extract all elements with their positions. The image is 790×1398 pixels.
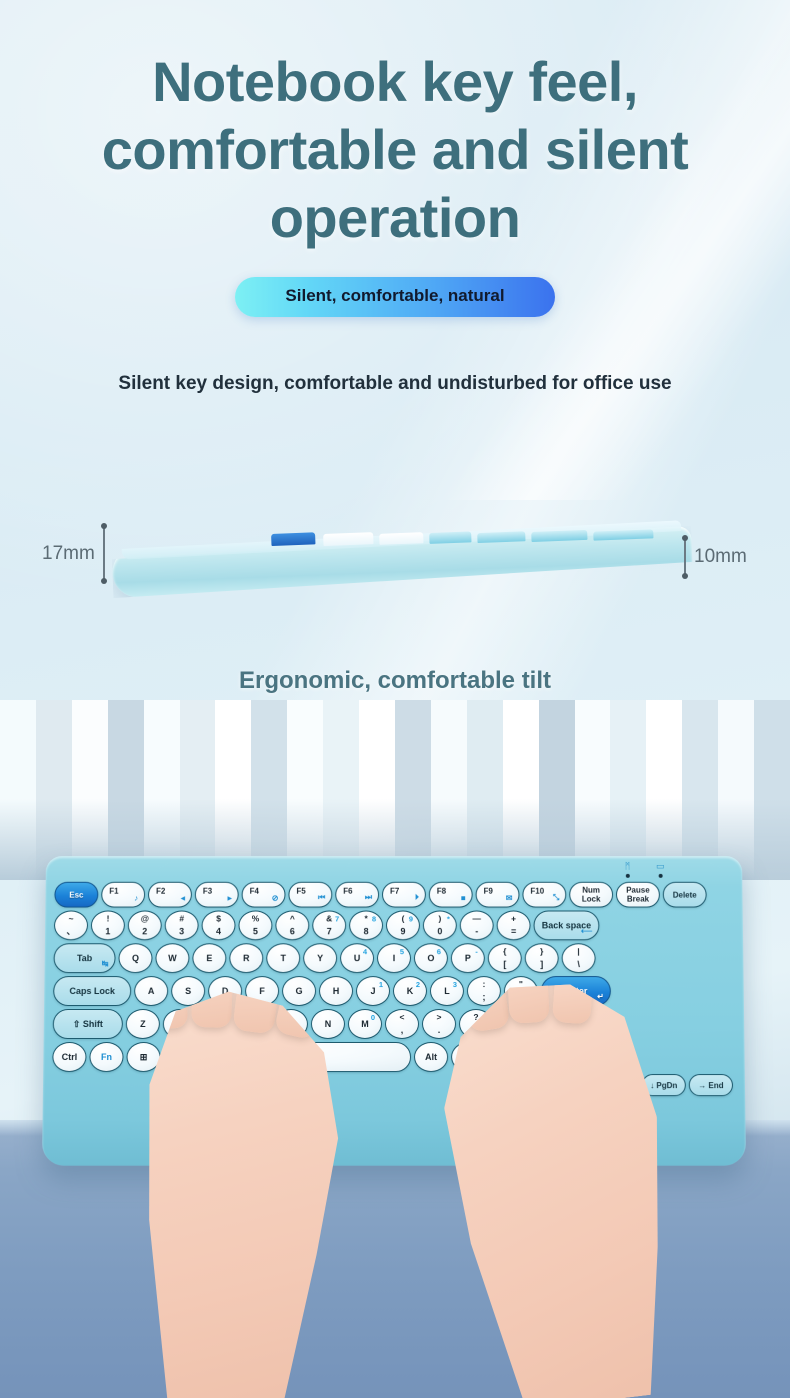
key-label: F9 — [484, 887, 493, 896]
key-function-icon: ⏮ — [318, 893, 325, 903]
blind-slat — [287, 700, 323, 880]
key-top-legend: ~ — [69, 914, 74, 923]
blind-slat — [323, 700, 359, 880]
key-label: F4 — [250, 887, 259, 896]
key-label: Tab — [77, 953, 92, 963]
product-feature-page: Notebook key feel, comfortable and silen… — [0, 0, 790, 1398]
keyboard-side-profile — [111, 514, 693, 598]
key-top-legend: ! — [107, 914, 110, 923]
side-view-section: 17mm 10mm — [0, 470, 790, 650]
key-label: T — [280, 953, 286, 963]
blind-slat — [215, 700, 251, 880]
key-bottom-legend: 1 — [105, 927, 110, 936]
key-f6[interactable]: F6⏭ — [335, 882, 379, 908]
key-label: → End — [698, 1081, 724, 1090]
key-label: F5 — [296, 887, 305, 896]
key-blank[interactable]: += — [497, 911, 531, 941]
dimension-left-line — [103, 526, 105, 581]
key-o[interactable]: O6 — [414, 943, 448, 973]
blind-slat — [395, 700, 431, 880]
key-blank[interactable]: —- — [460, 911, 494, 941]
key-label: Caps Lock — [69, 986, 115, 996]
key-top-legend: > — [437, 1013, 442, 1022]
qwerty-row: Tab↹QWERTYU4I5O6P-{[}]|\ — [53, 943, 734, 973]
key-label: G — [296, 986, 303, 996]
key-5[interactable]: %5 — [238, 911, 272, 941]
key-blank[interactable]: <, — [385, 1009, 419, 1039]
key-label: F10 — [530, 887, 544, 896]
dimension-callout-left: 17mm — [42, 526, 105, 581]
key-top-legend: ^ — [290, 914, 295, 923]
key-label: U — [354, 953, 361, 963]
key-1[interactable]: !1 — [91, 911, 125, 941]
key-top-legend: ) — [438, 914, 441, 923]
key-top-legend: * — [364, 914, 367, 923]
key-z[interactable]: Z — [126, 1009, 160, 1039]
key-label: M — [361, 1019, 369, 1029]
key-f10[interactable]: F10⤡ — [522, 882, 566, 908]
key-label: H — [333, 986, 340, 996]
key-6[interactable]: ^6 — [275, 911, 309, 941]
subtitle: Silent key design, comfortable and undis… — [0, 373, 790, 395]
key-label: P — [465, 953, 471, 963]
blind-slat — [467, 700, 503, 880]
key-ctrl[interactable]: Ctrl — [52, 1042, 86, 1072]
key-w[interactable]: W — [155, 943, 189, 973]
key-bottom-legend: \ — [577, 960, 580, 969]
key-numpad-legend: 1 — [379, 980, 383, 989]
key-label: NumLock — [582, 886, 601, 904]
key-numpad-legend: 2 — [416, 980, 420, 989]
key-bottom-legend: 9 — [400, 927, 405, 936]
key-numpad-legend: 3 — [453, 980, 457, 989]
key-bottom-legend: 、 — [66, 927, 75, 936]
side-key-cyan-2 — [477, 531, 525, 543]
blind-slat — [36, 700, 72, 880]
key-numpad-legend: 6 — [437, 947, 441, 956]
key-h[interactable]: H — [319, 976, 353, 1006]
key-bottom-legend: = — [511, 927, 516, 936]
key-label: Alt — [425, 1052, 437, 1062]
side-key-cyan-3 — [531, 530, 587, 542]
key-label: Ctrl — [62, 1052, 78, 1062]
key-end[interactable]: → End — [689, 1074, 733, 1096]
blind-slat — [575, 700, 611, 880]
key-function-icon: ⏭ — [365, 893, 372, 903]
key-top-legend: % — [252, 914, 260, 923]
key-pause-break[interactable]: PauseBreak — [616, 882, 660, 908]
key-label: Y — [317, 953, 323, 963]
key-label: Fn — [101, 1052, 112, 1062]
key-top-legend: + — [511, 914, 516, 923]
key-function-icon: ⊘ — [272, 894, 279, 903]
key-9[interactable]: (99 — [386, 911, 420, 941]
key-label: W — [168, 953, 177, 963]
key-a[interactable]: A — [134, 976, 168, 1006]
status-badge: Silent, comfortable, natural — [235, 277, 555, 317]
key-blank[interactable]: }] — [525, 943, 559, 973]
key-bottom-legend: ] — [540, 960, 543, 969]
key-q[interactable]: Q — [118, 943, 152, 973]
key-alt[interactable]: Alt — [414, 1042, 448, 1072]
key-label: Q — [132, 953, 139, 963]
key-blank[interactable]: ⊞ — [126, 1042, 160, 1072]
key-m[interactable]: M0 — [348, 1009, 382, 1039]
dimension-left-value: 17mm — [42, 543, 95, 565]
key-label: Delete — [673, 890, 697, 899]
dimension-right-line — [684, 538, 686, 576]
blind-slat — [503, 700, 539, 880]
key-label: I — [393, 953, 396, 963]
key-function-icon: ⏵ — [415, 893, 419, 903]
key-caps-lock[interactable]: Caps Lock — [53, 976, 131, 1006]
function-row: EscF1♪F2◂F3▸F4⊘F5⏮F6⏭F7⏵F8■F9✉F10⤡NumLoc… — [54, 882, 733, 908]
key-f2[interactable]: F2◂ — [148, 882, 192, 908]
ergonomic-caption: Ergonomic, comfortable tilt — [0, 667, 790, 695]
battery-indicator: ▭ — [656, 862, 665, 878]
key-blank[interactable]: |\ — [562, 943, 596, 973]
key-i[interactable]: I5 — [377, 943, 411, 973]
key-top-legend: & — [326, 914, 332, 923]
blind-slat — [359, 700, 395, 880]
key-numpad-legend: 8 — [372, 914, 376, 923]
key-top-legend: $ — [216, 914, 221, 923]
key-esc[interactable]: Esc — [54, 882, 98, 908]
dimension-right-value: 10mm — [694, 546, 747, 568]
key-label: L — [444, 986, 450, 996]
key-top-legend: | — [577, 947, 579, 956]
blind-slat — [251, 700, 287, 880]
key-k[interactable]: K2 — [393, 976, 427, 1006]
key-8[interactable]: *88 — [349, 911, 383, 941]
key-label: O — [427, 953, 434, 963]
battery-icon: ▭ — [656, 862, 665, 871]
key-blank[interactable]: {[ — [488, 943, 522, 973]
key-r[interactable]: R — [229, 943, 263, 973]
key-f5[interactable]: F5⏮ — [288, 882, 332, 908]
blind-slat — [754, 700, 790, 880]
key-label: F — [259, 986, 265, 996]
blind-slat — [682, 700, 718, 880]
key-n[interactable]: N — [311, 1009, 345, 1039]
blind-slat — [646, 700, 682, 880]
key-numpad-legend: 9 — [409, 914, 413, 923]
badge-container: Silent, comfortable, natural — [0, 277, 790, 317]
key-s[interactable]: S — [171, 976, 205, 1006]
key-g[interactable]: G — [282, 976, 316, 1006]
key-bottom-legend: ; — [482, 993, 485, 1002]
window-blinds-backdrop — [0, 700, 790, 880]
key-2[interactable]: @2 — [128, 911, 162, 941]
key-top-legend: { — [503, 947, 506, 956]
blind-slat — [180, 700, 216, 880]
key-bottom-legend: 4 — [216, 927, 221, 936]
key-label: S — [185, 986, 191, 996]
key-3[interactable]: #3 — [165, 911, 199, 941]
key-function-icon: ↹ — [102, 959, 109, 968]
blind-slat — [72, 700, 108, 880]
key-numpad-legend: 7 — [335, 914, 339, 923]
key-j[interactable]: J1 — [356, 976, 390, 1006]
key-top-legend: < — [400, 1013, 405, 1022]
key-function-icon: ▸ — [228, 894, 232, 903]
side-key-white-2 — [379, 532, 423, 545]
key-label: F1 — [109, 887, 118, 896]
key-bottom-legend: 6 — [290, 927, 295, 936]
key-label: ⊞ — [140, 1052, 148, 1063]
dimension-callout-right: 10mm — [684, 538, 747, 576]
keyboard-indicator-lights: ᛗ▭ — [625, 862, 665, 878]
side-key-blue — [271, 532, 315, 546]
key-fn[interactable]: Fn — [89, 1042, 123, 1072]
led-dot — [626, 874, 630, 878]
key-blank[interactable]: ~、 — [54, 911, 88, 941]
key-f4[interactable]: F4⊘ — [242, 882, 286, 908]
key-7[interactable]: &77 — [312, 911, 346, 941]
key-top-legend: ( — [402, 914, 405, 923]
key-bottom-legend: 3 — [179, 927, 184, 936]
key-numpad-legend: 4 — [363, 947, 367, 956]
home-row: Caps LockASDFGHJ1K2L3:;"'Enter↵ — [53, 976, 735, 1006]
bluetooth-indicator: ᛗ — [625, 862, 631, 878]
blind-slat — [610, 700, 646, 880]
key-y[interactable]: Y — [303, 943, 337, 973]
key-top-legend: } — [540, 947, 543, 956]
key-bottom-legend: 8 — [364, 927, 369, 936]
key-function-icon: ■ — [461, 894, 466, 903]
key-shift[interactable]: ⇧ Shift — [53, 1009, 123, 1039]
key-t[interactable]: T — [266, 943, 300, 973]
key-function-icon: ⤡ — [553, 893, 559, 903]
key-label: F2 — [156, 887, 165, 896]
key-numpad-legend: - — [475, 947, 478, 956]
key-label: E — [206, 953, 212, 963]
blind-slat — [144, 700, 180, 880]
key-numpad-legend: 0 — [371, 1013, 375, 1022]
blind-slat — [0, 700, 36, 880]
key-label-line: Break — [627, 895, 649, 904]
key-label: N — [325, 1019, 332, 1029]
key-top-legend: : — [482, 980, 485, 989]
key-label: Z — [140, 1019, 146, 1029]
key-bottom-legend: , — [401, 1026, 404, 1035]
key-blank[interactable]: >. — [422, 1009, 456, 1039]
key-label-line: Pause — [626, 886, 650, 895]
side-key-white-1 — [323, 532, 373, 546]
key-label: Esc — [69, 890, 83, 899]
key-function-icon: ♪ — [134, 894, 138, 903]
key-function-icon: ⟵ — [581, 926, 592, 935]
key-delete[interactable]: Delete — [663, 882, 707, 908]
side-key-cyan-1 — [429, 531, 471, 544]
key-back-space[interactable]: Back space⟵ — [533, 911, 599, 941]
key-e[interactable]: E — [192, 943, 226, 973]
key-label: F3 — [203, 887, 212, 896]
key-bottom-legend: [ — [503, 960, 506, 969]
key-f1[interactable]: F1♪ — [101, 882, 145, 908]
key-bottom-legend: - — [475, 927, 478, 936]
key-numpad-legend: 5 — [400, 947, 404, 956]
blind-slat — [718, 700, 754, 880]
key-p[interactable]: P- — [451, 943, 485, 973]
key-bottom-legend: 0 — [437, 927, 442, 936]
key-function-icon: ↵ — [597, 992, 604, 1001]
page-title: Notebook key feel, comfortable and silen… — [0, 48, 790, 252]
key-bottom-legend: . — [438, 1026, 441, 1035]
key-blank[interactable]: :; — [467, 976, 501, 1006]
key-label: R — [243, 953, 250, 963]
shift-row: ⇧ ShiftZXCVBNM0<,>.?/⇧ Shift — [53, 1009, 736, 1039]
key-f3[interactable]: F3▸ — [195, 882, 239, 908]
key-label: F6 — [343, 887, 352, 896]
key-num-lock[interactable]: NumLock — [569, 882, 613, 908]
key-top-legend: @ — [141, 914, 149, 923]
led-dot — [658, 874, 662, 878]
key-label: J — [370, 986, 375, 996]
key-label: PauseBreak — [626, 886, 650, 904]
key-top-legend: — — [472, 914, 480, 923]
key-label-line: Lock — [582, 895, 601, 904]
key-function-icon: ✉ — [506, 894, 513, 903]
key-u[interactable]: U4 — [340, 943, 374, 973]
key-bottom-legend: 7 — [327, 927, 332, 936]
key-tab[interactable]: Tab↹ — [53, 943, 115, 973]
key-label: ↓ PgDn — [650, 1081, 677, 1090]
key-label-line: Num — [582, 886, 600, 895]
blind-slat — [431, 700, 467, 880]
number-row: ~、!1@2#3$4%5^6&77*88(99)0*—-+=Back space… — [54, 911, 734, 941]
key-function-icon: ◂ — [181, 894, 185, 903]
key-f9[interactable]: F9✉ — [476, 882, 520, 908]
key-label: ⇧ Shift — [73, 1018, 103, 1029]
key-label: A — [148, 986, 155, 996]
key-f8[interactable]: F8■ — [429, 882, 473, 908]
key-l[interactable]: L3 — [430, 976, 464, 1006]
blind-slat — [108, 700, 144, 880]
blind-slat — [539, 700, 575, 880]
key-label: K — [407, 986, 414, 996]
bluetooth-icon: ᛗ — [625, 862, 630, 871]
key-bottom-legend: 2 — [142, 927, 147, 936]
key-0[interactable]: )0* — [423, 911, 457, 941]
key-4[interactable]: $4 — [202, 911, 236, 941]
key-top-legend: # — [179, 914, 184, 923]
key-label: F7 — [390, 887, 399, 896]
key-numpad-legend: * — [447, 914, 450, 923]
key-bottom-legend: 5 — [253, 927, 258, 936]
key-label: F8 — [437, 887, 446, 896]
key-f7[interactable]: F7⏵ — [382, 882, 426, 908]
